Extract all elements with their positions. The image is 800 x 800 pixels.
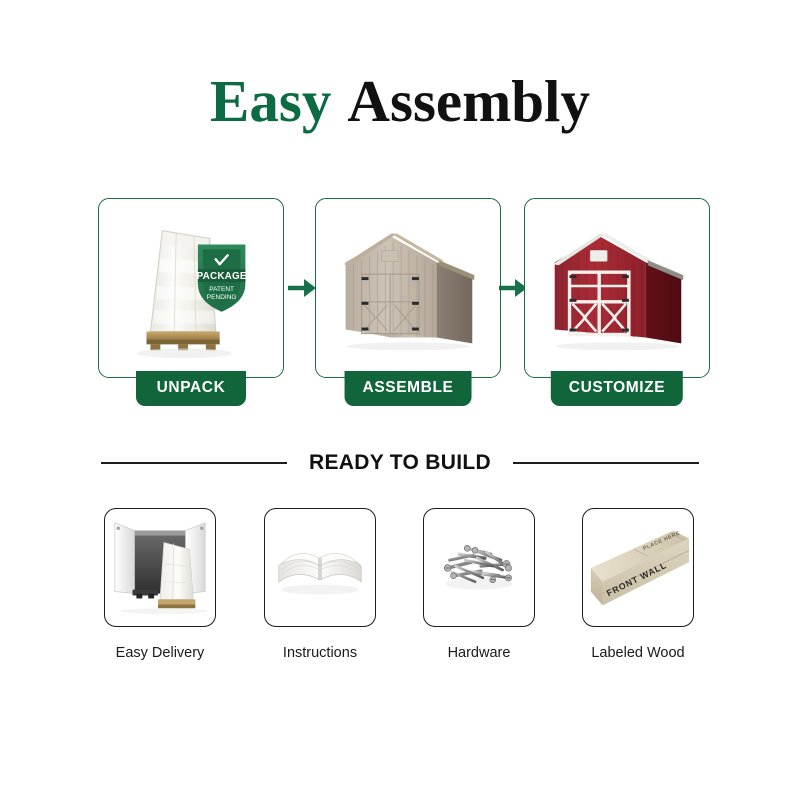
feature-labeled-wood-label: Labeled Wood xyxy=(582,645,694,661)
step-unpack-card: PACKAGE PATENT PENDING xyxy=(98,198,284,378)
step-unpack[interactable]: PACKAGE PATENT PENDING UNPACK xyxy=(98,198,284,378)
step-customize[interactable]: CUSTOMIZE xyxy=(524,198,710,378)
step-assemble-card xyxy=(315,198,501,378)
shrink-wrapped-pallet-image: PACKAGE PATENT PENDING xyxy=(99,199,283,377)
feature-labeled-wood-card: FRONT WALL PLACE HERE xyxy=(582,508,694,627)
feature-easy-delivery[interactable]: Easy Delivery xyxy=(104,508,216,661)
feature-instructions[interactable]: Instructions xyxy=(264,508,376,661)
feature-instructions-label: Instructions xyxy=(264,645,376,661)
divider-rule-left xyxy=(101,462,287,464)
page-title-accent: Easy xyxy=(210,68,331,134)
screws-pile-image xyxy=(424,509,534,626)
red-painted-shed-image xyxy=(525,199,709,377)
feature-instructions-card xyxy=(264,508,376,627)
features-row: Easy Delivery xyxy=(0,508,800,678)
feature-hardware[interactable]: Hardware xyxy=(423,508,535,661)
open-book-image xyxy=(265,509,375,626)
unpainted-shed-image xyxy=(316,199,500,377)
page-title-main: Assembly xyxy=(347,68,590,134)
divider-label: READY TO BUILD xyxy=(309,451,491,475)
svg-text:PATENT: PATENT xyxy=(209,286,234,293)
feature-hardware-card xyxy=(423,508,535,627)
svg-text:PACKAGE: PACKAGE xyxy=(197,271,247,282)
feature-labeled-wood[interactable]: FRONT WALL PLACE HERE Labeled Wood xyxy=(582,508,694,661)
feature-easy-delivery-card xyxy=(104,508,216,627)
ready-to-build-divider: READY TO BUILD xyxy=(0,446,800,480)
step-assemble-label: ASSEMBLE xyxy=(345,371,472,406)
delivery-truck-image xyxy=(105,509,215,626)
step-customize-card xyxy=(524,198,710,378)
divider-rule-right xyxy=(513,462,699,464)
steps-row: PACKAGE PATENT PENDING UNPACK xyxy=(0,198,800,408)
feature-hardware-label: Hardware xyxy=(423,645,535,661)
feature-easy-delivery-label: Easy Delivery xyxy=(104,645,216,661)
svg-text:PENDING: PENDING xyxy=(207,294,237,301)
page-title: EasyAssembly xyxy=(0,72,800,131)
labeled-lumber-bundle-image: FRONT WALL PLACE HERE xyxy=(583,509,693,626)
step-assemble[interactable]: ASSEMBLE xyxy=(315,198,501,378)
step-unpack-label: UNPACK xyxy=(136,371,246,406)
step-customize-label: CUSTOMIZE xyxy=(551,371,683,406)
